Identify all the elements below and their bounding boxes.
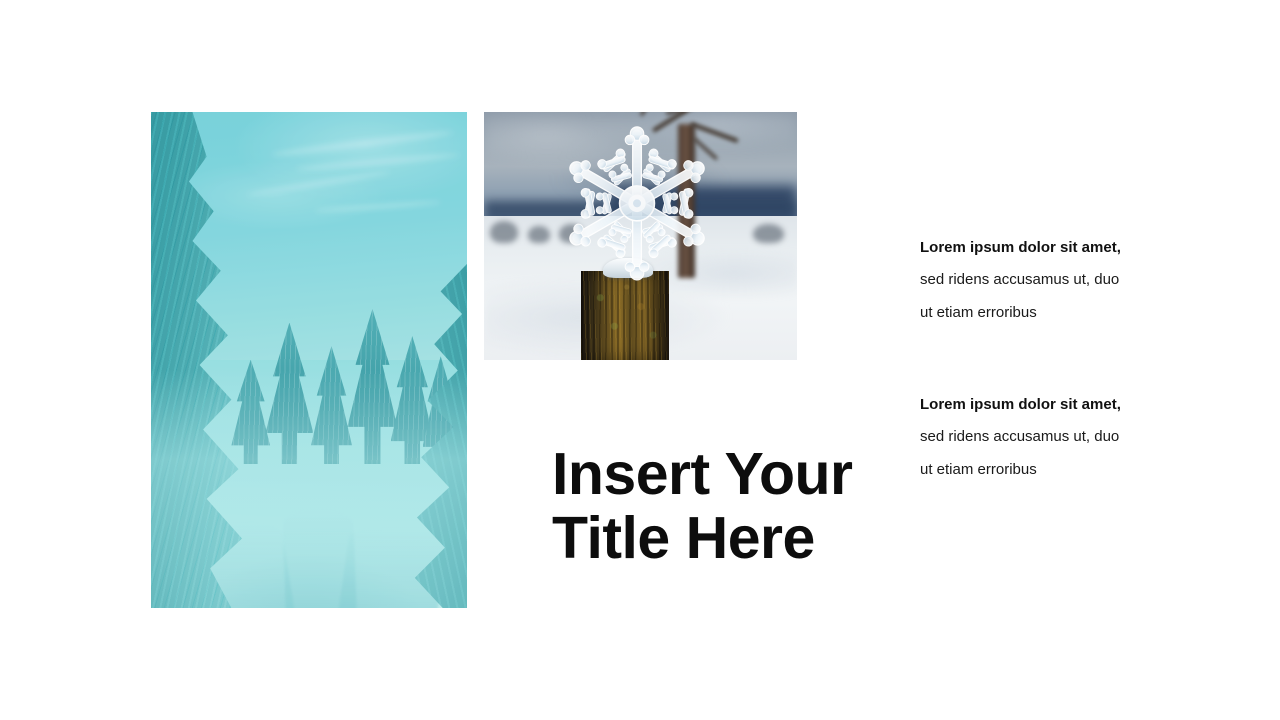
text-block-1-line-2: ut etiam erroribus bbox=[920, 305, 1170, 320]
text-block-2-line-1: sed ridens accusamus ut, duo bbox=[920, 429, 1170, 444]
presentation-slide: Insert Your Title Here Lorem ipsum dolor… bbox=[0, 0, 1280, 720]
text-block-2[interactable]: Lorem ipsum dolor sit amet, sed ridens a… bbox=[920, 397, 1170, 477]
cloud-streak-icon bbox=[246, 170, 390, 198]
snowy-forest-road-photo[interactable] bbox=[151, 112, 467, 608]
cloud-streak-icon bbox=[296, 152, 460, 172]
distant-bush-icon bbox=[753, 224, 784, 244]
conifer-tree-icon bbox=[266, 323, 314, 465]
title-line-1: Insert Your bbox=[552, 443, 882, 507]
mid-distance-conifers bbox=[227, 296, 455, 465]
title-line-2: Title Here bbox=[552, 507, 882, 571]
cloud-streak-icon bbox=[271, 129, 454, 158]
distant-bush-icon bbox=[490, 221, 518, 243]
text-block-2-heading: Lorem ipsum dolor sit amet, bbox=[920, 397, 1170, 412]
conifer-tree-icon bbox=[231, 360, 270, 465]
wooden-fence-post bbox=[581, 271, 669, 360]
text-block-1-line-1: sed ridens accusamus ut, duo bbox=[920, 272, 1170, 287]
text-block-1[interactable]: Lorem ipsum dolor sit amet, sed ridens a… bbox=[920, 240, 1170, 320]
conifer-tree-icon bbox=[311, 346, 352, 464]
text-block-1-heading: Lorem ipsum dolor sit amet, bbox=[920, 240, 1170, 255]
snowflake-ornament-photo[interactable] bbox=[484, 112, 797, 360]
page-title[interactable]: Insert Your Title Here bbox=[552, 443, 882, 570]
text-block-2-line-2: ut etiam erroribus bbox=[920, 462, 1170, 477]
snowflake-icon bbox=[540, 124, 734, 283]
cloud-streak-icon bbox=[315, 199, 441, 213]
conifer-tree-icon bbox=[347, 309, 397, 464]
